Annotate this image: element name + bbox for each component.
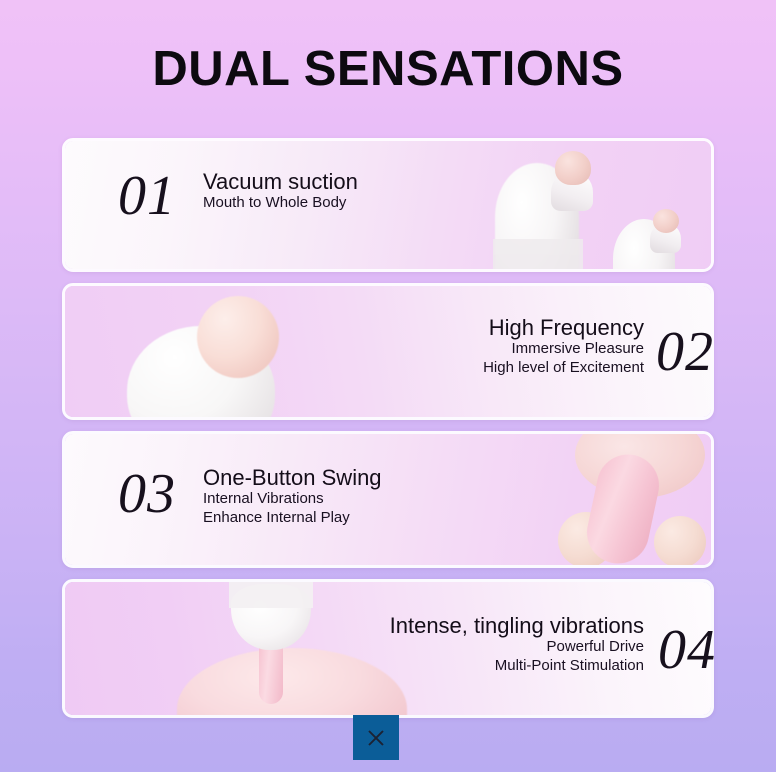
close-button[interactable]	[353, 715, 399, 760]
card-number-02: 02	[656, 324, 714, 380]
card-heading-02: High Frequency	[483, 316, 644, 340]
card-number-03: 03	[118, 466, 176, 522]
card-subtitle-03-1: Enhance Internal Play	[203, 509, 382, 528]
close-icon	[366, 728, 386, 748]
card-number-04: 04	[658, 622, 716, 678]
card-subtitle-02-0: Immersive Pleasure	[483, 340, 644, 359]
card-subtitle-02-1: High level of Excitement	[483, 359, 644, 378]
card-text-04: Intense, tingling vibrations Powerful Dr…	[390, 614, 644, 676]
card-text-01: Vacuum suction Mouth to Whole Body	[203, 170, 358, 213]
card-heading-04: Intense, tingling vibrations	[390, 614, 644, 638]
page-title: DUAL SENSATIONS	[0, 44, 776, 95]
card-subtitle-01-0: Mouth to Whole Body	[203, 194, 358, 213]
card-subtitle-04-0: Powerful Drive	[390, 638, 644, 657]
card-number-01: 01	[118, 168, 176, 224]
promo-page: DUAL SENSATIONS 01 Vacuum suction Mouth …	[0, 0, 776, 772]
card-text-02: High Frequency Immersive Pleasure High l…	[483, 316, 644, 378]
card-heading-03: One-Button Swing	[203, 466, 382, 490]
card-text-03: One-Button Swing Internal Vibrations Enh…	[203, 466, 382, 528]
card-heading-01: Vacuum suction	[203, 170, 358, 194]
card-subtitle-03-0: Internal Vibrations	[203, 490, 382, 509]
card-subtitle-04-1: Multi-Point Stimulation	[390, 657, 644, 676]
